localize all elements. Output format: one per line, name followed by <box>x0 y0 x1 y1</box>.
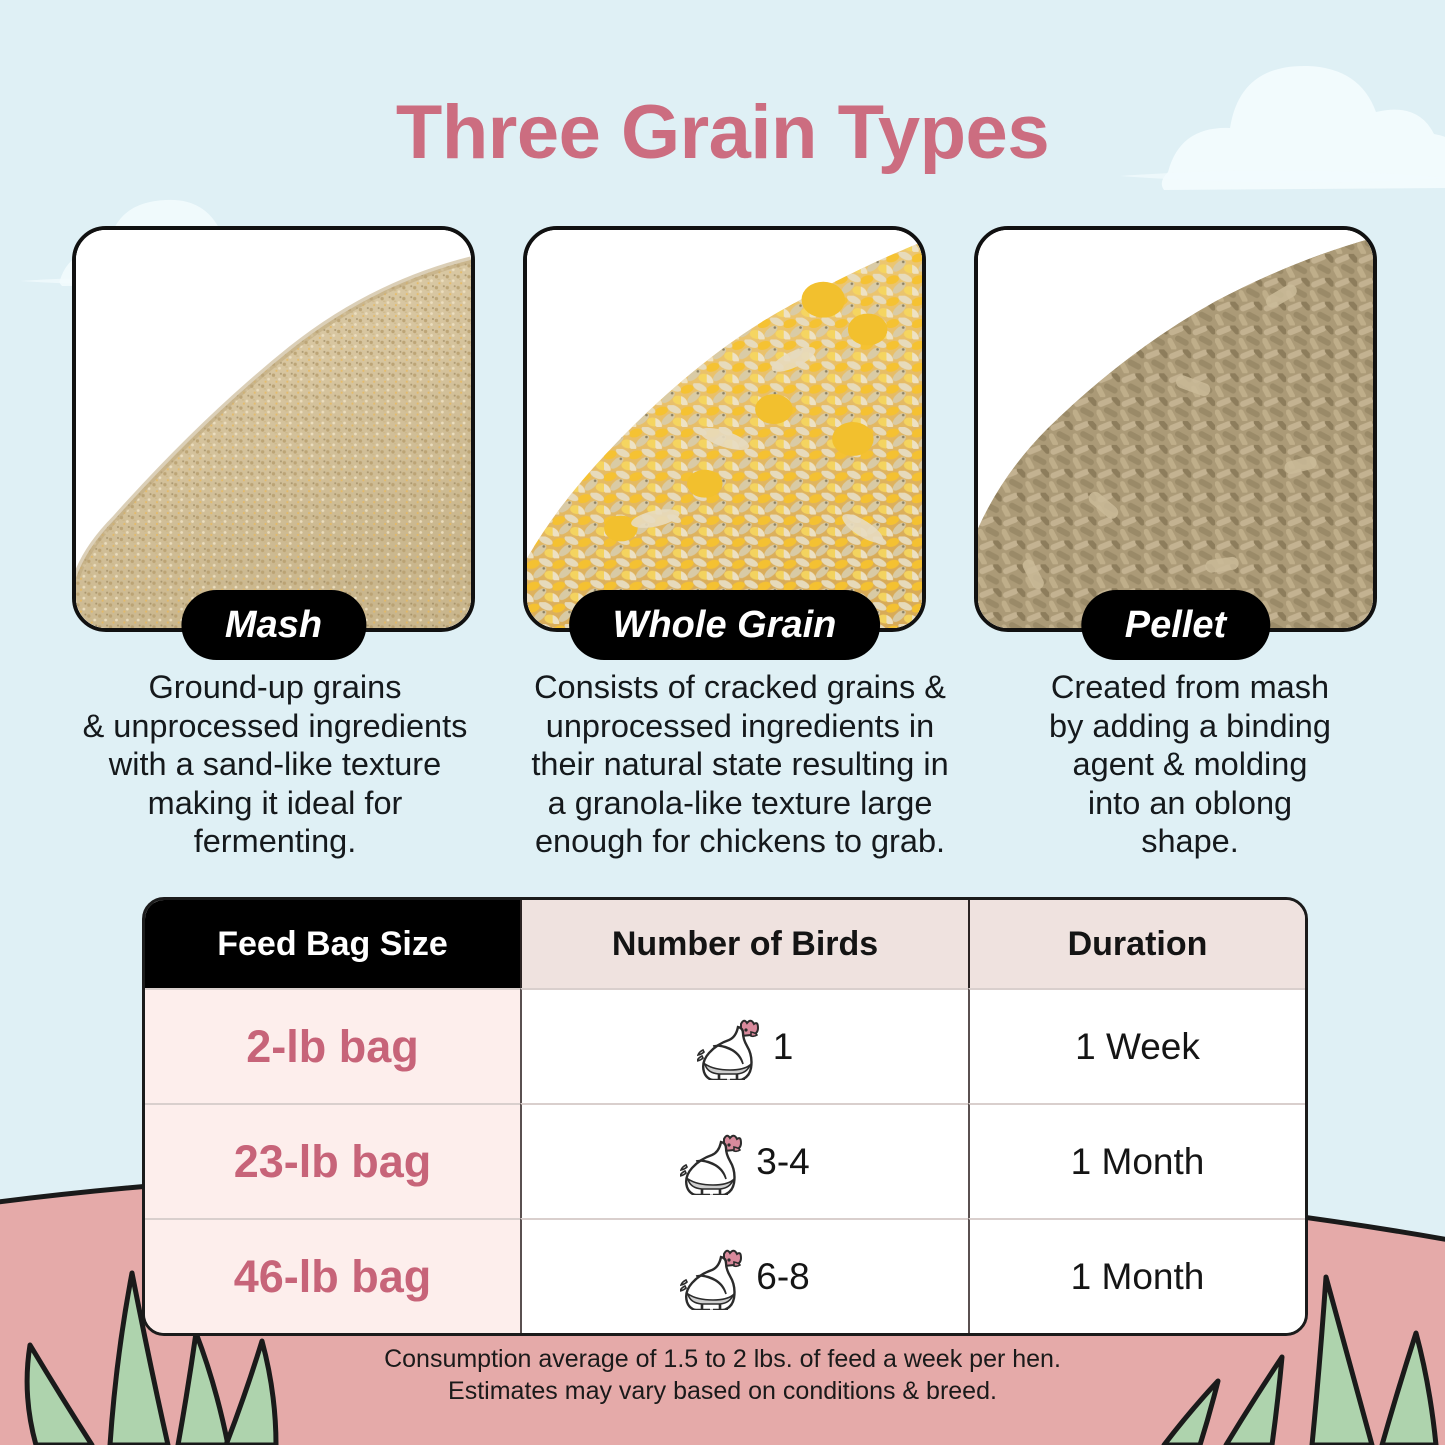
cell-duration: 1 Month <box>968 1218 1305 1333</box>
mash-photo <box>76 230 471 628</box>
birds-count: 6-8 <box>756 1256 809 1298</box>
feed-bag-table: Feed Bag Size Number of Birds Duration 2… <box>142 897 1308 1336</box>
grain-description-mash: Ground-up grains& unprocessed ingredient… <box>60 668 490 861</box>
cell-bag-size: 23-lb bag <box>145 1103 520 1218</box>
birds-count: 1 <box>773 1026 794 1068</box>
cell-duration: 1 Week <box>968 988 1305 1103</box>
cell-number-of-birds: 3-4 <box>520 1103 968 1218</box>
table-row: 46-lb bag 6-8 1 Month <box>145 1218 1305 1333</box>
table-header-feed-bag-size: Feed Bag Size <box>145 900 520 988</box>
cell-duration: 1 Month <box>968 1103 1305 1218</box>
cell-bag-size: 2-lb bag <box>145 988 520 1103</box>
table-header-duration: Duration <box>968 900 1305 988</box>
grain-card-label: Pellet <box>1081 590 1270 660</box>
grain-card-whole-grain[interactable]: Whole Grain <box>523 226 926 632</box>
pellet-photo <box>978 230 1373 628</box>
grain-card-row: Mash <box>72 226 1377 636</box>
birds-count: 3-4 <box>756 1141 809 1183</box>
page-title: Three Grain Types <box>0 95 1445 171</box>
grain-card-mash[interactable]: Mash <box>72 226 475 632</box>
grain-card-label: Mash <box>181 590 366 660</box>
cell-number-of-birds: 1 <box>520 988 968 1103</box>
whole-grain-photo <box>527 230 922 628</box>
grain-description-whole-grain: Consists of cracked grains &unprocessed … <box>505 668 975 861</box>
table-row: 23-lb bag 3-4 1 Month <box>145 1103 1305 1218</box>
hen-icon <box>697 1014 759 1080</box>
description-row: Ground-up grains& unprocessed ingredient… <box>60 668 1390 861</box>
table-header-number-of-birds: Number of Birds <box>520 900 968 988</box>
grain-card-pellet[interactable]: Pellet <box>974 226 1377 632</box>
footnote: Consumption average of 1.5 to 2 lbs. of … <box>0 1343 1445 1407</box>
hen-icon <box>680 1129 742 1195</box>
table-header-row: Feed Bag Size Number of Birds Duration <box>145 900 1305 988</box>
grain-card-label: Whole Grain <box>569 590 881 660</box>
table-row: 2-lb bag 1 1 Week <box>145 988 1305 1103</box>
hen-icon <box>680 1244 742 1310</box>
grain-description-pellet: Created from mashby adding a bindingagen… <box>990 668 1390 861</box>
cell-bag-size: 46-lb bag <box>145 1218 520 1333</box>
cell-number-of-birds: 6-8 <box>520 1218 968 1333</box>
infographic-canvas: Three Grain Types <box>0 0 1445 1445</box>
